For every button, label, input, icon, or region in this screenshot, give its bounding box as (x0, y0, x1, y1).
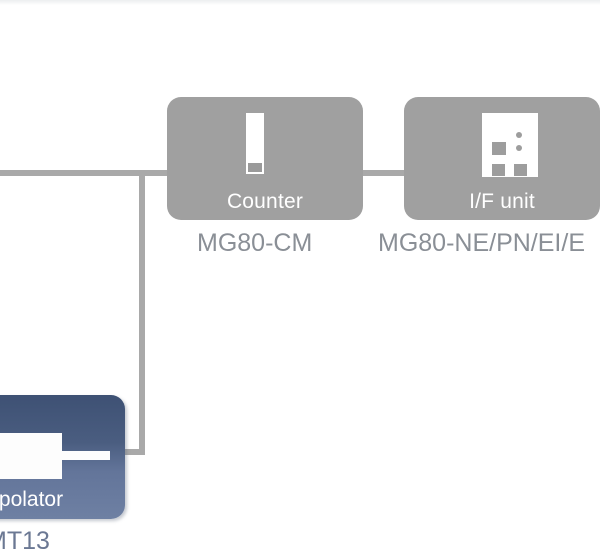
interface-unit-icon (482, 113, 538, 177)
module-counter[interactable]: Counter (167, 97, 363, 220)
counter-icon-chip (248, 163, 262, 172)
interpolator-icon (0, 433, 110, 480)
connector-counter-to-if-unit (358, 170, 408, 176)
module-counter-label: Counter (167, 191, 363, 212)
top-edge-band (0, 0, 600, 5)
if-icon-dot-1 (516, 132, 522, 138)
if-icon-square-1 (492, 142, 506, 155)
module-if-unit-label: I/F unit (404, 191, 600, 212)
device-interpolator-model: MT13 (0, 529, 50, 554)
module-if-unit-model: MG80-NE/PN/EI/E (378, 231, 585, 256)
if-icon-square-3 (514, 164, 527, 176)
connector-branch-vertical (139, 170, 145, 455)
device-interpolator[interactable]: rpolator (0, 395, 125, 519)
module-if-unit[interactable]: I/F unit (404, 97, 600, 220)
if-icon-dot-2 (516, 145, 522, 151)
module-counter-model: MG80-CM (197, 231, 312, 256)
device-interpolator-label: rpolator (0, 489, 125, 510)
counter-module-icon (246, 113, 264, 174)
if-icon-square-2 (492, 164, 505, 176)
diagram-canvas: Counter MG80-CM I/F unit MG80-NE/PN/EI/E… (0, 0, 600, 560)
